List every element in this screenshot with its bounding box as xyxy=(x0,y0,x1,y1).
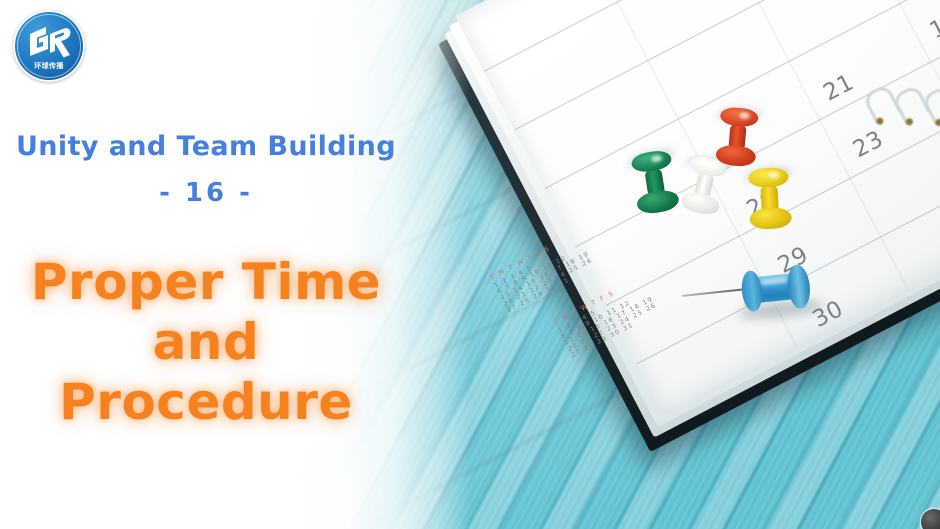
main-title-line-2: and xyxy=(0,312,412,372)
main-title-line-1: Proper Time xyxy=(0,252,412,312)
channel-logo[interactable]: 环球传播 xyxy=(13,10,85,82)
corner-watermark-badge xyxy=(921,509,940,529)
main-title: Proper Time and Procedure xyxy=(0,252,412,432)
calendar-day-22: 23 xyxy=(849,126,888,163)
calendar-day-15: 15 xyxy=(926,7,940,44)
gr-monogram-icon xyxy=(26,25,72,59)
logo-chinese-text: 环球传播 xyxy=(34,61,64,71)
series-title: Unity and Team Building xyxy=(0,131,412,162)
slide-canvas: 27 13 7 14 8 21 15 28 23 27 29 30 S M T … xyxy=(0,0,940,529)
episode-label: - 16 - xyxy=(0,178,412,208)
main-title-line-3: Procedure xyxy=(0,372,412,432)
